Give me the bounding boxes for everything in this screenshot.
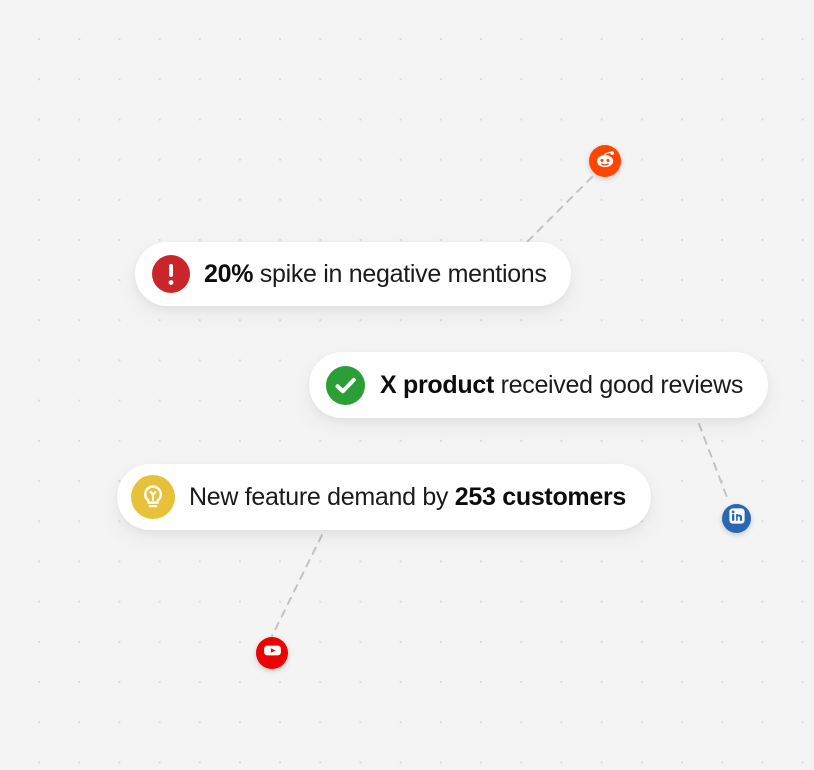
connector-feature-demand-to-youtube [272, 535, 322, 636]
youtube-icon [262, 640, 283, 666]
insight-board-canvas: 20% spike in negative mentions X product… [0, 0, 814, 770]
source-badge-youtube[interactable] [256, 637, 288, 669]
insight-rest: received good reviews [494, 371, 743, 399]
reddit-icon [594, 148, 616, 175]
lightbulb-icon [131, 475, 175, 519]
insight-rest: New feature demand by [189, 483, 455, 511]
insight-pill-feature-demand[interactable]: New feature demand by 253 customers [117, 464, 651, 530]
source-badge-linkedin[interactable] [722, 504, 751, 533]
alert-exclamation-icon [152, 255, 190, 293]
connector-reddit-to-negative-mentions [522, 177, 592, 247]
insight-highlight: 20% [204, 260, 253, 288]
insight-label: 20% spike in negative mentions [204, 260, 547, 289]
insight-highlight: 253 customers [455, 483, 626, 511]
connector-good-reviews-to-linkedin [699, 424, 728, 500]
insight-highlight: X product [380, 371, 494, 399]
source-badge-reddit[interactable] [589, 145, 621, 177]
insight-pill-negative-mentions[interactable]: 20% spike in negative mentions [135, 242, 571, 306]
insight-label: X product received good reviews [380, 371, 743, 400]
insight-label: New feature demand by 253 customers [189, 483, 626, 512]
linkedin-icon [728, 507, 746, 530]
insight-pill-good-reviews[interactable]: X product received good reviews [309, 352, 768, 418]
insight-rest: spike in negative mentions [253, 260, 546, 288]
check-circle-icon [326, 366, 365, 405]
